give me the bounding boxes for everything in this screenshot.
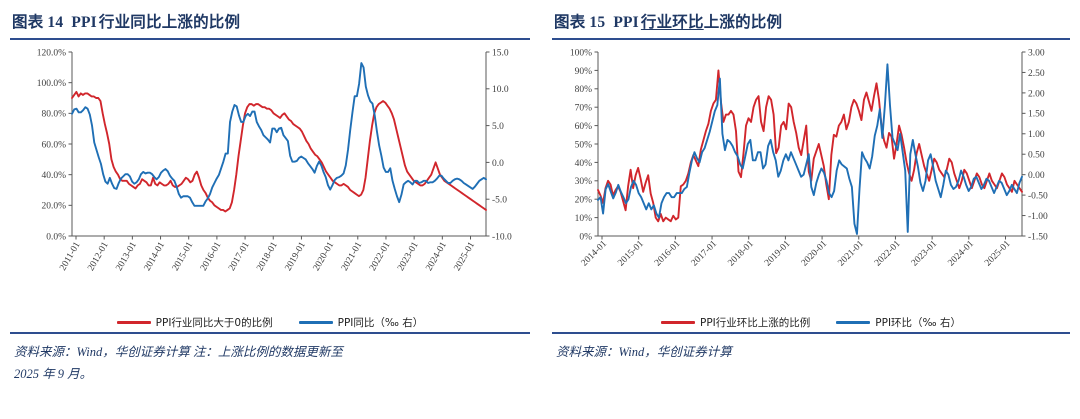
figure-15-source-line1: 资料来源：Wind，华创证券计算 [556,345,732,359]
figure-14-source: 资料来源：Wind，华创证券计算 注：上涨比例的数据更新至 2025 年 9 月… [8,334,532,386]
legend-label: PPI行业环比上涨的比例 [700,315,810,330]
svg-text:5.0: 5.0 [492,122,504,132]
legend-swatch-icon [661,321,695,324]
svg-text:70%: 70% [575,104,593,114]
legend-item[interactable]: PPI行业环比上涨的比例 [661,315,810,330]
svg-text:2014-01: 2014-01 [143,240,168,273]
svg-text:60.0%: 60.0% [41,140,66,150]
figure-15-panel: 图表15PPI行业环比上涨的比例 0%10%20%30%40%50%60%70%… [540,0,1080,419]
svg-text:50%: 50% [575,140,593,150]
legend-item[interactable]: PPI同比（‰ 右） [299,315,424,330]
figure-14-source-line1: 资料来源：Wind，华创证券计算 注：上涨比例的数据更新至 [14,345,343,359]
svg-text:2.50: 2.50 [1028,69,1045,79]
svg-text:2022-01: 2022-01 [368,240,393,273]
svg-text:80.0%: 80.0% [41,110,66,120]
svg-text:2012-01: 2012-01 [86,240,111,273]
figure-14-panel: 图表14PPI行业同比上涨的比例 0.0%20.0%40.0%60.0%80.0… [0,0,540,419]
svg-text:2016-01: 2016-01 [653,239,683,269]
figure-14-title-number: 14 [43,14,71,31]
svg-text:40%: 40% [575,159,593,169]
svg-text:0.0: 0.0 [492,159,504,169]
svg-text:120.0%: 120.0% [37,48,66,58]
svg-text:40.0%: 40.0% [41,171,66,181]
figure-15-legend: PPI行业环比上涨的比例PPI环比（‰ 右） [550,315,1072,330]
svg-text:2017-01: 2017-01 [227,240,252,273]
svg-text:10.0: 10.0 [492,85,509,95]
svg-text:2.00: 2.00 [1028,89,1045,99]
figure-15-title-prefix: 图表 [554,14,585,31]
legend-swatch-icon [299,321,333,324]
figure-14-chart-area: 0.0%20.0%40.0%60.0%80.0%100.0%120.0%-10.… [8,40,532,332]
legend-label: PPI行业同比大于0的比例 [156,315,273,330]
svg-text:2011-01: 2011-01 [58,240,82,272]
svg-text:-1.50: -1.50 [1028,232,1048,242]
svg-text:2021-01: 2021-01 [836,239,866,269]
svg-text:15.0: 15.0 [492,48,509,58]
svg-text:-1.00: -1.00 [1028,212,1048,222]
svg-text:2023-01: 2023-01 [910,239,940,269]
svg-text:2016-01: 2016-01 [199,240,224,273]
svg-text:1.00: 1.00 [1028,130,1045,140]
ppi-mom-chart: 0%10%20%30%40%50%60%70%80%90%100%-1.50-1… [550,40,1072,308]
svg-text:2014-01: 2014-01 [580,239,610,269]
svg-text:0.0%: 0.0% [46,232,66,242]
svg-text:1.50: 1.50 [1028,110,1045,120]
svg-text:-5.0: -5.0 [492,196,507,206]
svg-text:80%: 80% [575,85,593,95]
svg-text:2013-01: 2013-01 [114,240,139,273]
legend-label: PPI同比（‰ 右） [338,315,424,330]
svg-text:100.0%: 100.0% [37,79,66,89]
legend-swatch-icon [836,321,870,324]
svg-text:2019-01: 2019-01 [284,240,309,273]
legend-swatch-icon [117,321,151,324]
svg-text:2022-01: 2022-01 [873,239,903,269]
svg-text:2018-01: 2018-01 [255,240,280,273]
figure-15-title-rest-underlined: 行业环比 [641,14,704,31]
svg-text:3.00: 3.00 [1028,48,1045,58]
svg-text:20.0%: 20.0% [41,202,66,212]
figure-14-legend: PPI行业同比大于0的比例PPI同比（‰ 右） [8,315,532,330]
svg-text:2017-01: 2017-01 [690,239,720,269]
figure-15-chart-area: 0%10%20%30%40%50%60%70%80%90%100%-1.50-1… [550,40,1072,332]
legend-item[interactable]: PPI环比（‰ 右） [836,315,961,330]
figure-15-title: 图表15PPI行业环比上涨的比例 [550,0,1072,38]
svg-text:-10.0: -10.0 [492,232,512,242]
ppi-yoy-chart: 0.0%20.0%40.0%60.0%80.0%100.0%120.0%-10.… [8,40,532,308]
legend-label: PPI环比（‰ 右） [875,315,961,330]
svg-text:2024-01: 2024-01 [424,240,449,273]
svg-text:-0.50: -0.50 [1028,192,1048,202]
figure-15-title-number: 15 [585,14,613,31]
svg-text:20%: 20% [575,196,593,206]
svg-text:30%: 30% [575,177,593,187]
svg-text:2021-01: 2021-01 [340,240,365,273]
svg-text:2024-01: 2024-01 [946,239,976,269]
figure-15-title-ppi: PPI [613,14,641,31]
svg-text:2020-01: 2020-01 [800,239,830,269]
legend-item[interactable]: PPI行业同比大于0的比例 [117,315,273,330]
svg-text:2023-01: 2023-01 [396,240,421,273]
svg-text:0.50: 0.50 [1028,151,1045,161]
svg-text:10%: 10% [575,214,593,224]
svg-text:2020-01: 2020-01 [312,240,337,273]
figure-14-title-ppi: PPI [71,14,99,31]
svg-text:2015-01: 2015-01 [616,239,646,269]
svg-text:60%: 60% [575,122,593,132]
figure-14-source-line2: 2025 年 9 月。 [14,364,526,386]
figure-14-title-rest: 行业同比上涨的比例 [99,14,240,31]
figure-14-title-prefix: 图表 [12,14,43,31]
figure-14-title: 图表14PPI行业同比上涨的比例 [8,0,532,38]
svg-text:0.00: 0.00 [1028,171,1045,181]
svg-text:2015-01: 2015-01 [171,240,196,273]
svg-text:90%: 90% [575,67,593,77]
svg-text:2025-01: 2025-01 [983,239,1013,269]
svg-text:2018-01: 2018-01 [726,239,756,269]
svg-text:100%: 100% [570,48,592,58]
figure-15-title-rest: 上涨的比例 [704,14,783,31]
svg-text:2019-01: 2019-01 [763,239,793,269]
figure-pair-page: 图表14PPI行业同比上涨的比例 0.0%20.0%40.0%60.0%80.0… [0,0,1080,419]
figure-15-source: 资料来源：Wind，华创证券计算 [550,334,1072,364]
svg-text:0%: 0% [579,232,592,242]
svg-text:2025-01: 2025-01 [453,240,478,273]
